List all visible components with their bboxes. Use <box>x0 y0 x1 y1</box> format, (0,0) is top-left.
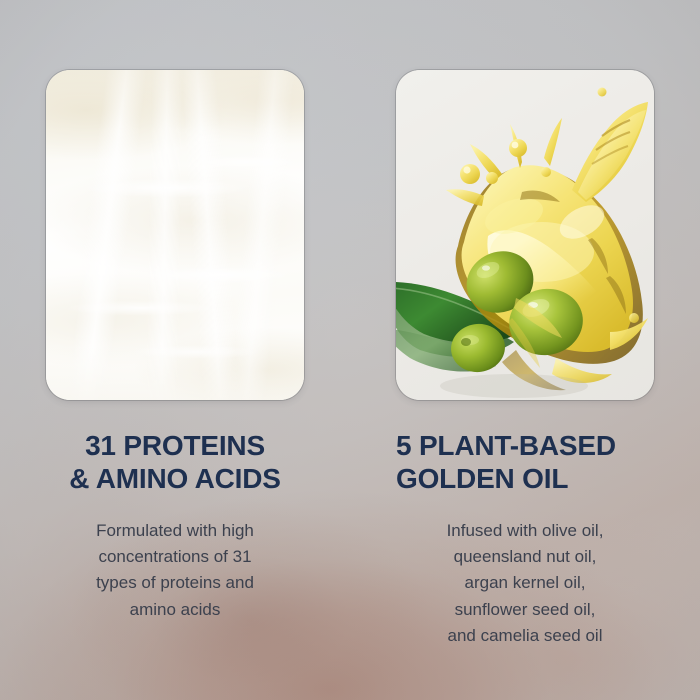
benefits-columns: 31 PROTEINS & AMINO ACIDS Formulated wit… <box>0 0 700 700</box>
benefit-body-proteins: Formulated with high concentrations of 3… <box>44 518 306 623</box>
oil-splash-illustration <box>396 70 654 400</box>
benefit-heading-proteins: 31 PROTEINS & AMINO ACIDS <box>69 430 281 496</box>
benefit-body-golden-oil: Infused with olive oil, queensland nut o… <box>394 518 656 650</box>
benefit-heading-golden-oil: 5 PLANT-BASED GOLDEN OIL <box>396 430 654 496</box>
olive-oil-splash-photo <box>396 70 654 400</box>
cream-texture-photo <box>46 70 304 400</box>
product-benefits-graphic: 31 PROTEINS & AMINO ACIDS Formulated wit… <box>0 0 700 700</box>
benefit-column-proteins: 31 PROTEINS & AMINO ACIDS Formulated wit… <box>0 0 350 700</box>
cream-edge-shading <box>46 70 304 400</box>
benefit-column-golden-oil: 5 PLANT-BASED GOLDEN OIL Infused with ol… <box>350 0 700 700</box>
